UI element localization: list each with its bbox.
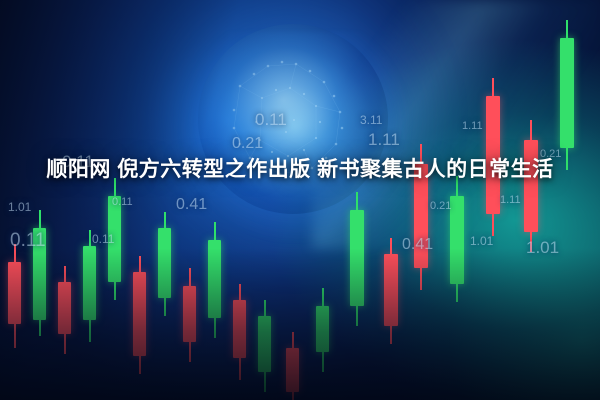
price-number-label: 1.11 — [462, 120, 483, 132]
headline-text: 顺阳网 倪方六转型之作出版 新书聚集古人的日常生活 — [0, 150, 600, 190]
price-number-label: 0.11 — [255, 110, 287, 130]
price-number-label: 1.11 — [500, 194, 521, 206]
price-number-label: 0.11 — [92, 232, 114, 246]
stock-market-headline-image: 0.113.111.110.211.110.110.211.010.110.41… — [0, 0, 600, 400]
price-number-label: 1.01 — [8, 200, 31, 214]
price-number-label: 3.11 — [360, 113, 382, 127]
price-number-label: 0.21 — [430, 200, 451, 212]
background-bottom-vignette — [0, 248, 600, 400]
price-number-label: 0.41 — [176, 196, 207, 214]
price-number-label: 0.11 — [112, 196, 133, 208]
price-number-label: 1.11 — [368, 130, 400, 150]
price-number-label: 1.01 — [470, 234, 493, 248]
